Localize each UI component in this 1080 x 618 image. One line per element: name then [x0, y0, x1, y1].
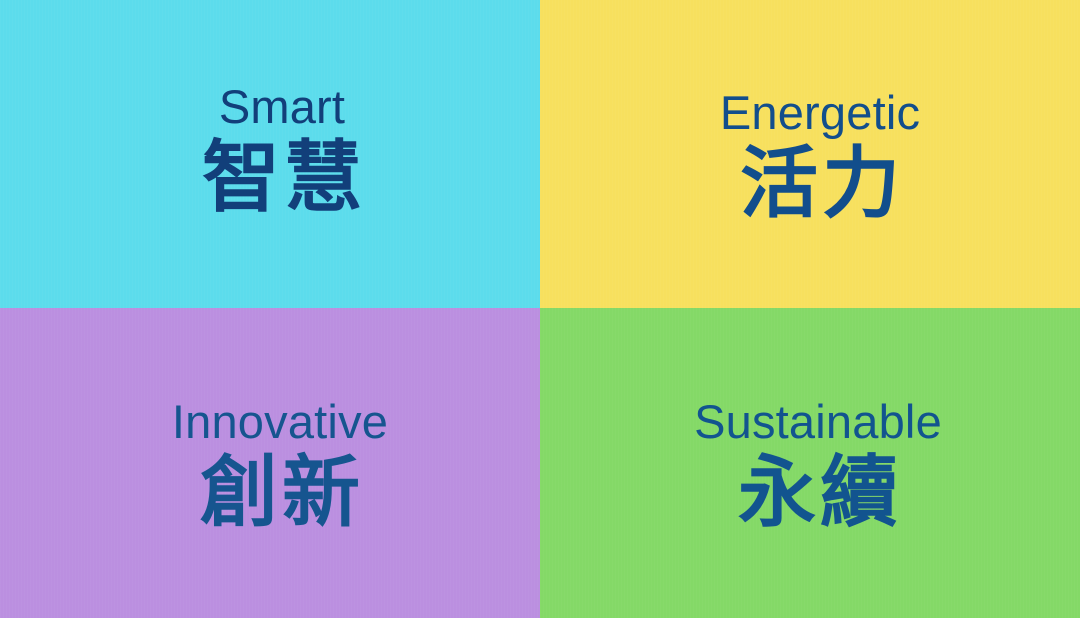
quadrant-smart[interactable]: Smart 智慧	[0, 0, 540, 308]
text-block-innovative: Innovative 創新	[172, 397, 388, 538]
text-block-sustainable: Sustainable 永續	[694, 397, 942, 538]
label-en-energetic: Energetic	[720, 88, 920, 137]
label-en-sustainable: Sustainable	[694, 397, 942, 446]
quadrant-innovative[interactable]: Innovative 創新	[0, 308, 540, 618]
brand-values-grid: Smart 智慧 Energetic 活力 Innovative 創新 Sust…	[0, 0, 1080, 618]
label-cjk-innovative: 創新	[196, 450, 364, 537]
label-cjk-sustainable: 永續	[734, 450, 902, 537]
text-block-smart: Smart 智慧	[198, 82, 366, 223]
label-cjk-smart: 智慧	[198, 135, 366, 222]
label-cjk-energetic: 活力	[736, 141, 904, 228]
text-block-energetic: Energetic 活力	[720, 88, 920, 229]
label-en-smart: Smart	[219, 82, 345, 131]
quadrant-sustainable[interactable]: Sustainable 永續	[540, 308, 1080, 618]
label-en-innovative: Innovative	[172, 397, 388, 446]
quadrant-energetic[interactable]: Energetic 活力	[540, 0, 1080, 308]
